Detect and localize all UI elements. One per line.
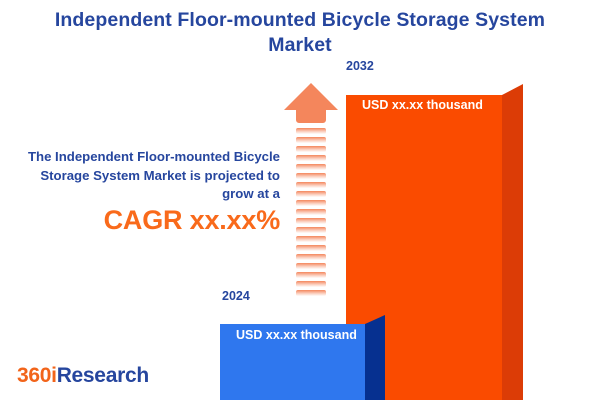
bar-2024-side-face	[365, 315, 385, 400]
bar-2032-side-face	[502, 84, 523, 400]
bar-2024-value-label: USD xx.xx thousand	[236, 328, 357, 342]
bar-2024-year-label: 2024	[222, 289, 250, 303]
upward-growth-arrow	[283, 82, 339, 297]
cagr-highlight: CAGR xx.xx%	[22, 205, 280, 236]
page-title: Independent Floor-mounted Bicycle Storag…	[24, 8, 576, 58]
brand-logo-word: Research	[57, 364, 149, 387]
brand-logo: 360iResearch	[17, 364, 149, 388]
brand-logo-mark: 360i	[17, 364, 57, 387]
market-description-text: The Independent Floor-mounted Bicycle St…	[22, 148, 280, 204]
infographic-canvas: Independent Floor-mounted Bicycle Storag…	[0, 0, 600, 400]
bar-2032-year-label: 2032	[346, 59, 374, 73]
bar-2032-value-label: USD xx.xx thousand	[362, 98, 483, 112]
